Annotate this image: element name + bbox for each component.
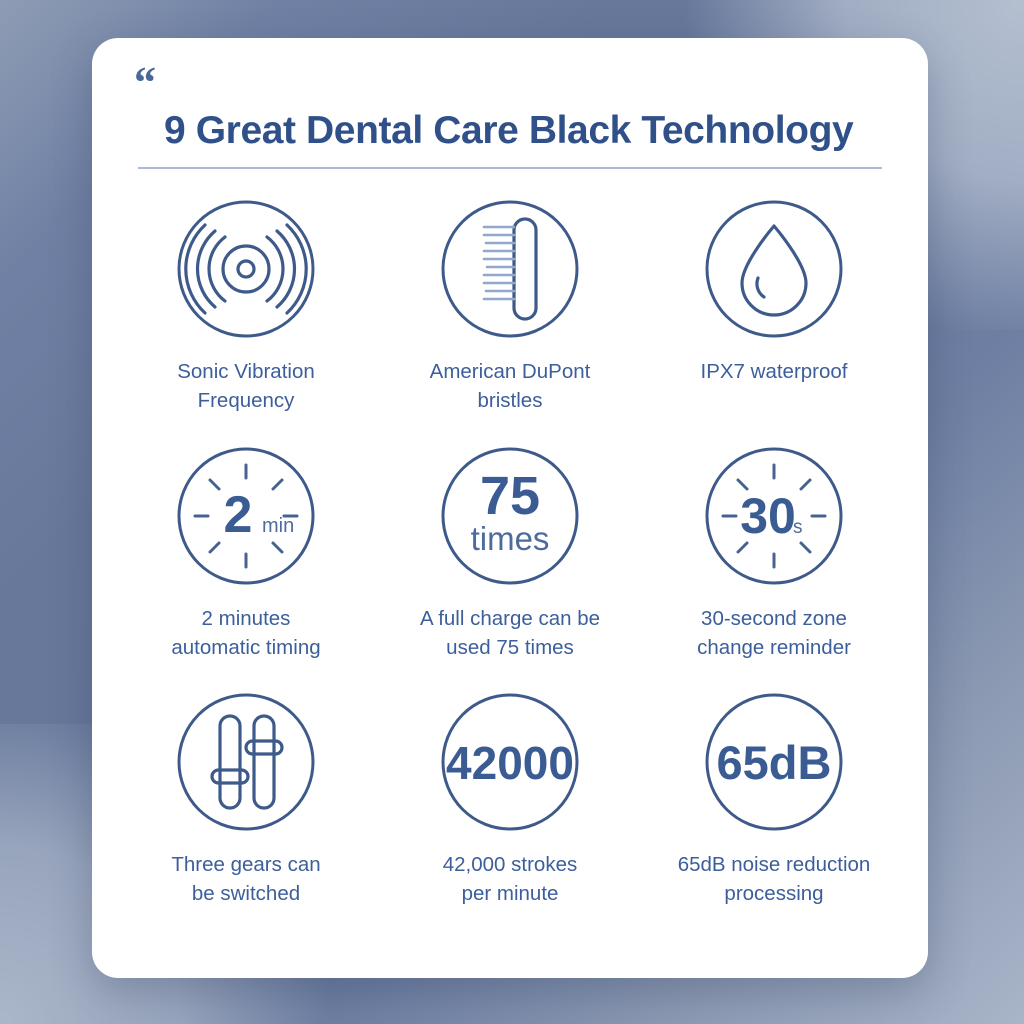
feature-card: “ 9 Great Dental Care Black Technology <box>92 38 928 978</box>
feature-item-65db-noise: 65dB 65dB noise reduction processing <box>642 686 906 933</box>
feature-item-2-minute-timer: 2 min 2 minutes automatic timing <box>114 440 378 687</box>
caption-line-1: Sonic Vibration <box>177 357 315 386</box>
caption-line-1: 42,000 strokes <box>443 850 577 879</box>
charge-unit: times <box>471 520 550 557</box>
feature-caption: 65dB noise reduction processing <box>678 850 871 908</box>
timer-30s-icon: 30 s <box>698 440 850 592</box>
feature-caption: A full charge can be used 75 times <box>420 604 600 662</box>
toothbrush-bristles-icon <box>434 193 586 345</box>
water-droplet-icon <box>698 193 850 345</box>
page-title: 9 Great Dental Care Black Technology <box>164 109 888 153</box>
feature-item-three-gears: Three gears can be switched <box>114 686 378 933</box>
caption-line-1: IPX7 waterproof <box>701 357 848 386</box>
caption-line-2: bristles <box>430 386 591 415</box>
caption-line-2: processing <box>678 879 871 908</box>
caption-line-1: Three gears can <box>171 850 320 879</box>
caption-line-2: used 75 times <box>420 633 600 662</box>
timer-unit: min <box>262 515 294 537</box>
feature-item-75-charges: 75 times A full charge can be used 75 ti… <box>378 440 642 687</box>
feature-caption: IPX7 waterproof <box>701 357 848 386</box>
caption-line-1: 2 minutes <box>171 604 320 633</box>
slider-gears-icon <box>170 686 322 838</box>
caption-line-2: change reminder <box>697 633 851 662</box>
timer-unit: s <box>793 517 803 538</box>
noise-65db-icon: 65dB <box>698 686 850 838</box>
feature-item-sonic-vibration: Sonic Vibration Frequency <box>114 193 378 440</box>
caption-line-1: American DuPont <box>430 357 591 386</box>
caption-line-1: 30-second zone <box>697 604 851 633</box>
feature-item-42000-strokes: 42000 42,000 strokes per minute <box>378 686 642 933</box>
feature-caption: 2 minutes automatic timing <box>171 604 320 662</box>
timer-value: 30 <box>740 488 796 544</box>
strokes-42000-icon: 42000 <box>434 686 586 838</box>
noise-value: 65dB <box>717 736 832 789</box>
feature-item-dupont-bristles: American DuPont bristles <box>378 193 642 440</box>
caption-line-2: per minute <box>443 879 577 908</box>
feature-caption: American DuPont bristles <box>430 357 591 415</box>
feature-caption: 30-second zone change reminder <box>697 604 851 662</box>
feature-caption: 42,000 strokes per minute <box>443 850 577 908</box>
caption-line-2: Frequency <box>177 386 315 415</box>
feature-caption: Sonic Vibration Frequency <box>177 357 315 415</box>
title-divider <box>138 167 882 169</box>
strokes-value: 42000 <box>446 737 574 789</box>
sonic-wave-icon <box>170 193 322 345</box>
caption-line-1: A full charge can be <box>420 604 600 633</box>
feature-grid: Sonic Vibration Frequency <box>92 169 928 959</box>
caption-line-2: be switched <box>171 879 320 908</box>
caption-line-1: 65dB noise reduction <box>678 850 871 879</box>
caption-line-2: automatic timing <box>171 633 320 662</box>
timer-2min-icon: 2 min <box>170 440 322 592</box>
card-header: “ 9 Great Dental Care Black Technology <box>92 38 928 169</box>
charge-75-times-icon: 75 times <box>434 440 586 592</box>
feature-item-30-second-reminder: 30 s 30-second zone change reminder <box>642 440 906 687</box>
feature-item-ipx7-waterproof: IPX7 waterproof <box>642 193 906 440</box>
quote-mark-icon: “ <box>134 66 888 99</box>
charge-value: 75 <box>480 466 540 526</box>
feature-caption: Three gears can be switched <box>171 850 320 908</box>
timer-value: 2 <box>224 486 253 544</box>
